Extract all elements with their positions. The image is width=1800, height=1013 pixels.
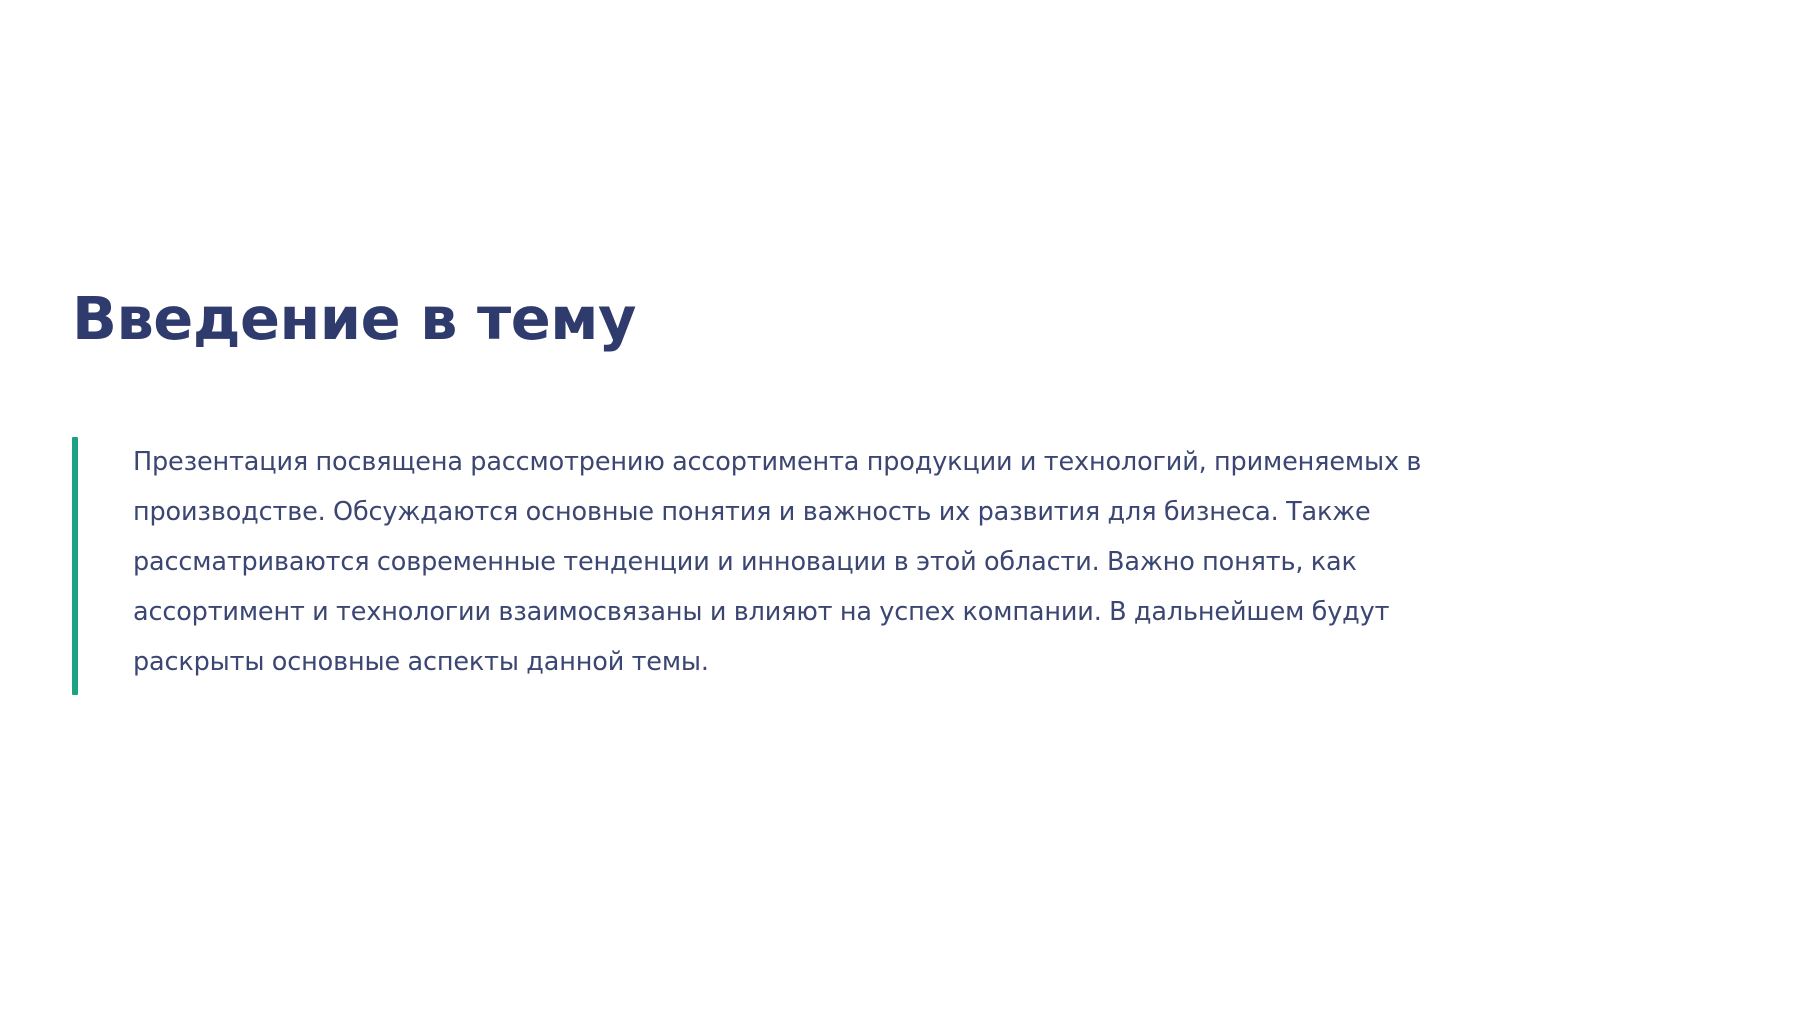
page-title: Введение в тему <box>72 287 636 351</box>
presentation-slide: Введение в тему Презентация посвящена ра… <box>0 0 1800 1013</box>
body-paragraph: Презентация посвящена рассмотрению ассор… <box>78 437 1492 695</box>
body-block: Презентация посвящена рассмотрению ассор… <box>72 437 1492 695</box>
